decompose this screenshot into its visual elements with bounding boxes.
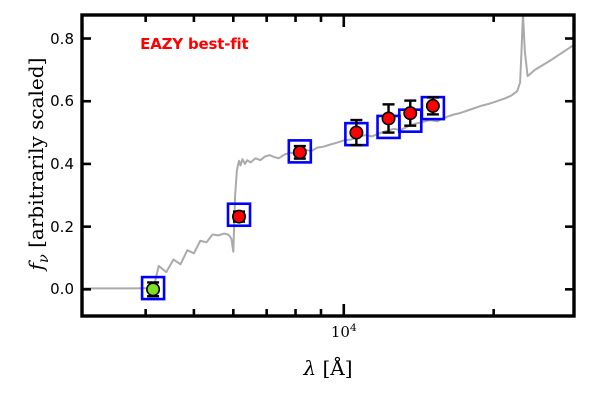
y-tick-label: 0.2: [28, 218, 74, 236]
sed-figure: fν [arbitrarily scaled] λ [Å] EAZY best-…: [0, 0, 600, 400]
axis-ticks: [82, 15, 574, 316]
eazy-bestfit-annotation: EAZY best-fit: [140, 35, 248, 53]
photometry-points: [142, 97, 444, 299]
x-axis-label-unit: [Å]: [322, 356, 352, 380]
photometry-point: [289, 140, 311, 162]
y-axis-label-nu: ν: [36, 254, 52, 263]
photometry-point: [399, 101, 421, 132]
photometry-point: [228, 204, 250, 226]
photometry-point: [345, 120, 367, 145]
x-tick-mantissa: 10: [331, 323, 350, 341]
x-axis-label: λ [Å]: [82, 356, 574, 380]
y-tick-label: 0.0: [28, 280, 74, 298]
y-tick-label: 0.4: [28, 155, 74, 173]
x-tick-label: 104: [314, 322, 374, 341]
spectrum-template-line: [82, 13, 574, 288]
y-tick-label: 0.6: [28, 92, 74, 110]
plot-canvas: [0, 0, 600, 400]
x-tick-exponent: 4: [350, 322, 357, 334]
x-axis-label-lambda: λ: [303, 356, 316, 380]
photometry-point: [422, 97, 444, 119]
y-axis-label-f: f: [24, 263, 48, 270]
plot-frame: [82, 15, 574, 316]
y-tick-label: 0.8: [28, 30, 74, 48]
